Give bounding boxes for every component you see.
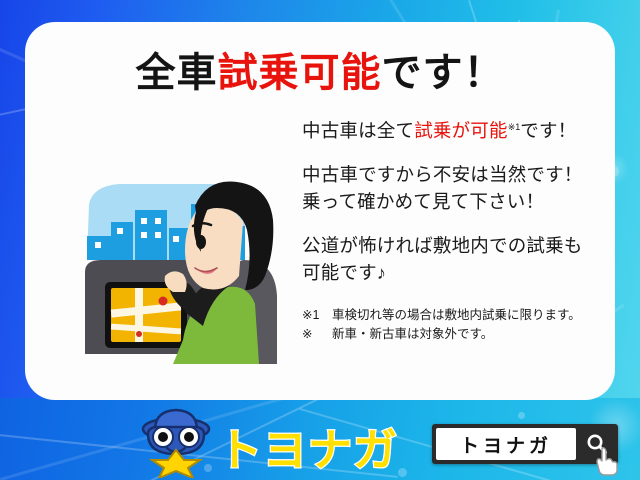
page-title-highlight: 試乗可能 (218, 51, 382, 95)
copy-line: 乗って確かめて見て下さい！ (302, 188, 607, 215)
footnotes: ※1車検切れ等の場合は敷地内試乗に限ります。 ※新車・新古車は対象外です。 (302, 306, 607, 344)
footnote-mark: ※1 (302, 306, 332, 325)
content-card: 全車試乗可能です！ (25, 22, 615, 400)
page-title-tail: です！ (382, 51, 505, 95)
paragraph-3: 公道が怖ければ敷地内での試乗も 可能です♪ (302, 232, 607, 286)
footnote-item: ※新車・新古車は対象外です。 (302, 325, 607, 344)
pointer-hand-icon (596, 446, 622, 476)
copy-post: です！ (520, 120, 576, 141)
copy-line: 中古車は全て試乗が可能※1です！ (302, 114, 607, 144)
search-input[interactable]: トヨナガ (436, 428, 576, 460)
footnote-mark: ※ (302, 325, 332, 344)
copy-pre: 中古車は全て (302, 120, 414, 141)
copy-line: 可能です♪ (302, 259, 607, 286)
footnote-text: 新車・新古車は対象外です。 (332, 327, 493, 341)
copy-footnote-ref: ※1 (508, 122, 521, 132)
footnote-item: ※1車検切れ等の場合は敷地内試乗に限ります。 (302, 306, 607, 325)
toyonaga-mascot-icon (138, 406, 214, 478)
brand-logo-text: トヨナガ (218, 414, 398, 478)
flyer-canvas: 全車試乗可能です！ (0, 0, 640, 480)
search-input-value: トヨナガ (460, 431, 552, 458)
copy-line: 中古車ですから不安は当然です！ (302, 161, 607, 188)
page-title-lead: 全車 (136, 51, 218, 95)
body-copy: 中古車は全て試乗が可能※1です！ 中古車ですから不安は当然です！ 乗って確かめて… (302, 114, 607, 344)
page-title: 全車試乗可能です！ (25, 40, 615, 98)
footnote-text: 車検切れ等の場合は敷地内試乗に限ります。 (332, 308, 581, 322)
copy-highlight: 試乗が可能 (414, 120, 508, 141)
search-bar[interactable]: トヨナガ (432, 424, 618, 464)
paragraph-1: 中古車は全て試乗が可能※1です！ (302, 114, 607, 144)
paragraph-2: 中古車ですから不安は当然です！ 乗って確かめて見て下さい！ (302, 161, 607, 215)
illustration-driving (77, 164, 307, 364)
copy-line: 公道が怖ければ敷地内での試乗も (302, 232, 607, 259)
